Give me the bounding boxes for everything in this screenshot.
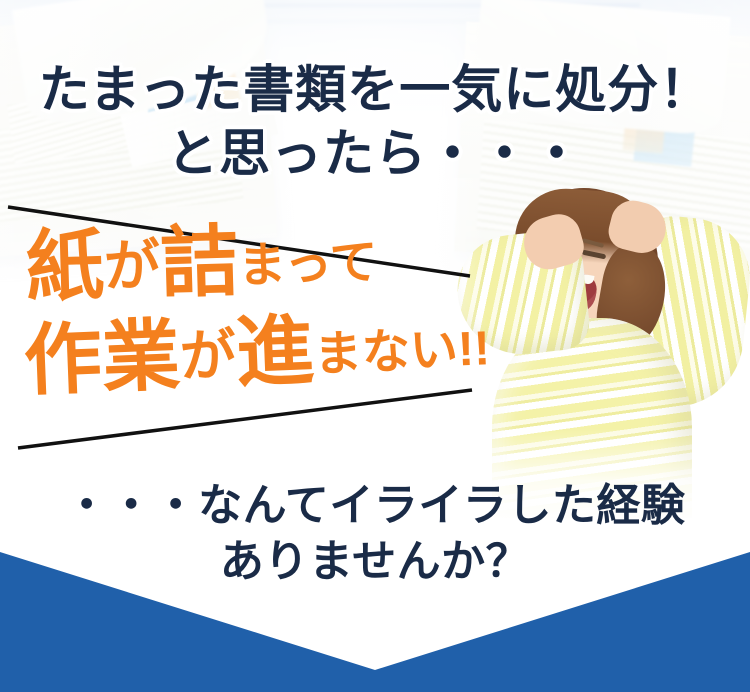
banner-kanji-susu: 進 (234, 306, 315, 397)
headline-line-2: と思ったら・・・ (0, 122, 750, 186)
banner-kanji-tsuma: 詰 (159, 217, 239, 307)
banner-kana-manai: まない!! (313, 322, 491, 382)
banner-kana-ga-1: が (103, 233, 161, 298)
bottom-chevron-arrow (0, 542, 750, 692)
banner-kana-ga-2: が (179, 323, 237, 388)
headline-line-1: たまった書類を一気に処分！ (0, 58, 750, 122)
chevron-blue-shape (0, 552, 750, 692)
closing-line-1: ・・・なんてイライラした経験 (0, 478, 750, 534)
banner-kanji-kami: 紙 (25, 221, 105, 311)
banner-kana-matte: まって (237, 236, 378, 293)
banner-kanji-sagyo: 作業 (22, 311, 181, 405)
banner-text-line-1: 紙が詰まって (25, 218, 379, 306)
headline: たまった書類を一気に処分！ と思ったら・・・ (0, 58, 750, 186)
promo-banner: たまった書類を一気に処分！ と思ったら・・・ 紙が詰まって 作業が進まない!! (0, 0, 750, 692)
